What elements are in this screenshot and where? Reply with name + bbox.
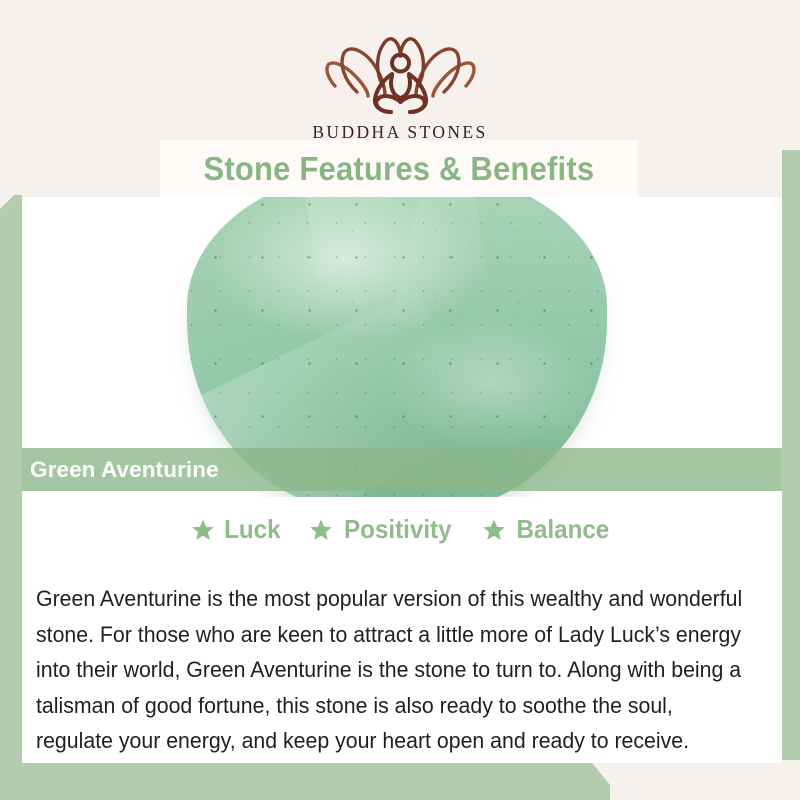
frame-accent-bottom — [0, 763, 610, 800]
feature-list: Luck Positivity Balance — [22, 514, 782, 545]
frame-accent-left — [0, 195, 22, 781]
brand-logo: BUDDHA STONES — [285, 20, 515, 143]
stone-description: Green Aventurine is the most popular ver… — [36, 581, 745, 759]
feature-item-luck: Luck — [191, 514, 283, 545]
stone-name-band: Green Aventurine — [22, 448, 782, 491]
feature-item-balance: Balance — [482, 514, 613, 545]
feature-label: Luck — [225, 514, 281, 545]
title-banner: Stone Features & Benefits — [160, 140, 638, 197]
header: BUDDHA STONES — [0, 0, 800, 150]
stone-name: Green Aventurine — [30, 457, 219, 483]
feature-item-positivity: Positivity — [309, 514, 456, 545]
star-icon — [482, 518, 506, 542]
star-icon — [309, 518, 333, 542]
feature-label: Positivity — [344, 514, 452, 545]
star-icon — [191, 518, 215, 542]
page-title: Stone Features & Benefits — [204, 150, 595, 188]
lotus-meditation-icon — [313, 20, 488, 120]
feature-label: Balance — [516, 514, 609, 545]
infographic-page: BUDDHA STONES Stone Features & Benefits … — [0, 0, 800, 800]
